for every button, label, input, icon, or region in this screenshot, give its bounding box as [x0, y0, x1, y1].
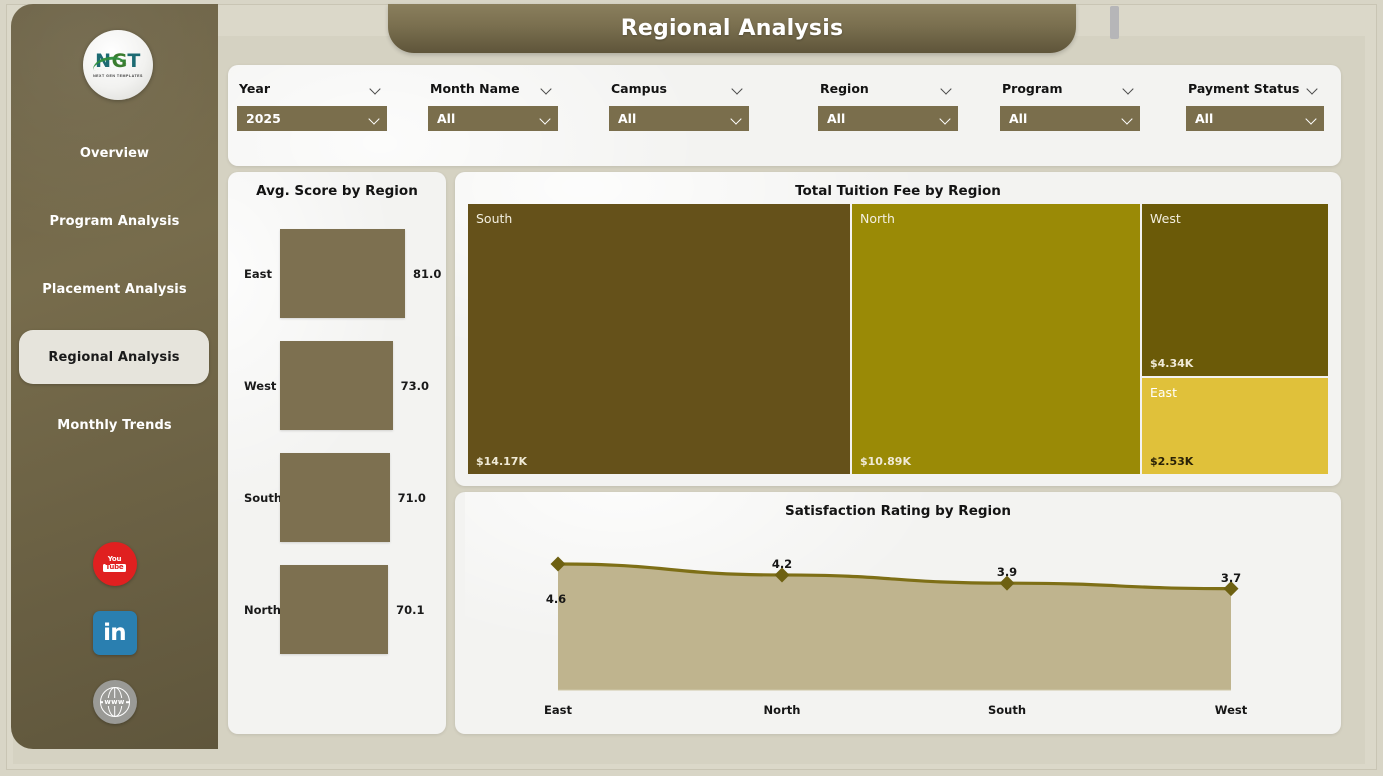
sidebar-nav: Overview Program Analysis Placement Anal… [11, 126, 218, 466]
bar-row: West73.0 [228, 330, 446, 442]
sidebar-item-placement-analysis[interactable]: Placement Analysis [11, 262, 218, 316]
linkedin-glyph: in [103, 622, 126, 645]
slicer-title: Payment Status [1188, 81, 1299, 96]
treemap-column: West$4.34KEast$2.53K [1142, 204, 1328, 474]
area-chart-plot: 4.64.23.93.7EastNorthSouthWest [455, 522, 1341, 734]
slicer-payment-status[interactable]: Payment Status All [1186, 77, 1324, 131]
social-links: You Tube in www [11, 542, 218, 749]
data-point-value-label: 3.9 [997, 565, 1017, 579]
sidebar-item-label: Placement Analysis [42, 282, 186, 297]
treemap-tile-label: East [1150, 385, 1177, 400]
chevron-down-icon[interactable] [1307, 83, 1318, 94]
treemap-tile[interactable]: East$2.53K [1142, 378, 1328, 474]
chart-title-total-tuition: Total Tuition Fee by Region [455, 183, 1341, 199]
slicer-title: Region [820, 81, 869, 96]
dashboard-root: NGT NEXT GEN TEMPLATES Overview Program … [0, 0, 1383, 776]
youtube-label-top: You [108, 556, 122, 563]
chevron-down-icon[interactable] [369, 113, 380, 124]
sidebar-item-overview[interactable]: Overview [11, 126, 218, 180]
chevron-down-icon[interactable] [941, 83, 952, 94]
linkedin-icon[interactable]: in [93, 611, 137, 655]
bar-value-label: 81.0 [413, 267, 441, 281]
chevron-down-icon[interactable] [1123, 83, 1134, 94]
x-axis-category-label: East [544, 703, 572, 717]
area-fill [558, 564, 1231, 690]
slicer-dropdown[interactable]: All [428, 106, 558, 131]
slicer-header[interactable]: Program [1000, 77, 1140, 99]
satisfaction-rating-by-region-panel: Satisfaction Rating by Region 4.64.23.93… [455, 492, 1341, 734]
bar-rect[interactable] [280, 229, 405, 318]
treemap-tile[interactable]: North$10.89K [852, 204, 1140, 474]
sidebar-item-regional-analysis[interactable]: Regional Analysis [19, 330, 209, 384]
youtube-icon[interactable]: You Tube [93, 542, 137, 586]
treemap-column: North$10.89K [852, 204, 1140, 474]
avg-score-by-region-panel: Avg. Score by Region East81.0West73.0Sou… [228, 172, 446, 734]
bar-category-label: East [244, 267, 272, 281]
bar-value-label: 73.0 [401, 379, 429, 393]
slicer-value: All [827, 111, 845, 126]
slicer-region[interactable]: Region All [818, 77, 958, 131]
treemap-tile[interactable]: South$14.17K [468, 204, 850, 474]
sidebar-item-label: Monthly Trends [57, 418, 171, 433]
treemap-tile-label: North [860, 211, 895, 226]
slicer-dropdown[interactable]: All [1000, 106, 1140, 131]
treemap-tile-label: West [1150, 211, 1181, 226]
chevron-down-icon[interactable] [732, 83, 743, 94]
slicer-dropdown[interactable]: All [609, 106, 749, 131]
slicer-header[interactable]: Payment Status [1186, 77, 1324, 99]
slicer-title: Month Name [430, 81, 520, 96]
youtube-glyph: You Tube [102, 554, 128, 574]
treemap-column: South$14.17K [468, 204, 850, 474]
brand-logo: NGT NEXT GEN TEMPLATES [83, 30, 153, 100]
x-axis-category-label: South [988, 703, 1026, 717]
bar-category-label: North [244, 603, 281, 617]
logo-letter-t: T [127, 50, 140, 72]
bar-category-label: South [244, 491, 282, 505]
bar-chart-plot: East81.0West73.0South71.0North70.1 [228, 218, 446, 718]
area-chart-svg [455, 522, 1341, 734]
chevron-down-icon[interactable] [940, 113, 951, 124]
slicer-header[interactable]: Year [237, 77, 387, 99]
bar-value-label: 71.0 [398, 491, 426, 505]
sidebar: NGT NEXT GEN TEMPLATES Overview Program … [11, 4, 218, 749]
bar-rect[interactable] [280, 565, 388, 654]
bar-row: East81.0 [228, 218, 446, 330]
logo-tagline: NEXT GEN TEMPLATES [93, 74, 143, 78]
treemap-tile-label: South [476, 211, 512, 226]
data-point-value-label: 3.7 [1221, 571, 1241, 585]
bar-rect[interactable] [280, 341, 393, 430]
bar-row: South71.0 [228, 442, 446, 554]
sidebar-item-label: Overview [80, 146, 149, 161]
chart-title-avg-score: Avg. Score by Region [228, 183, 446, 199]
vertical-scrollbar-handle[interactable] [1110, 6, 1119, 39]
slicer-dropdown[interactable]: All [818, 106, 958, 131]
slicer-year[interactable]: Year 2025 [237, 77, 387, 131]
chevron-down-icon[interactable] [731, 113, 742, 124]
data-point-value-label: 4.2 [772, 557, 792, 571]
slicer-program[interactable]: Program All [1000, 77, 1140, 131]
treemap-tile-value: $4.34K [1150, 357, 1193, 370]
sidebar-item-label: Program Analysis [50, 214, 180, 229]
sidebar-item-program-analysis[interactable]: Program Analysis [11, 194, 218, 248]
chevron-down-icon[interactable] [1122, 113, 1133, 124]
treemap-tile-value: $10.89K [860, 455, 911, 468]
treemap-tile-value: $14.17K [476, 455, 527, 468]
treemap-plot: South$14.17KNorth$10.89KWest$4.34KEast$2… [468, 204, 1328, 474]
x-axis-category-label: West [1215, 703, 1247, 717]
slicer-header[interactable]: Month Name [428, 77, 558, 99]
bar-rect[interactable] [280, 453, 390, 542]
total-tuition-fee-by-region-panel: Total Tuition Fee by Region South$14.17K… [455, 172, 1341, 486]
slicer-campus[interactable]: Campus All [609, 77, 749, 131]
slicer-value: All [437, 111, 455, 126]
page-title-banner: Regional Analysis [388, 4, 1076, 53]
slicer-value: 2025 [246, 111, 281, 126]
chevron-down-icon[interactable] [370, 83, 381, 94]
slicer-value: All [1195, 111, 1213, 126]
chart-title-satisfaction: Satisfaction Rating by Region [455, 503, 1341, 519]
slicer-title: Program [1002, 81, 1063, 96]
x-axis-category-label: North [764, 703, 801, 717]
bar-category-label: West [244, 379, 276, 393]
slicer-title: Year [239, 81, 270, 96]
chevron-down-icon[interactable] [540, 113, 551, 124]
slicer-dropdown[interactable]: 2025 [237, 106, 387, 131]
chevron-down-icon[interactable] [1306, 113, 1317, 124]
bar-row: North70.1 [228, 554, 446, 666]
slicer-month-name[interactable]: Month Name All [428, 77, 558, 131]
website-icon[interactable]: www [93, 680, 137, 724]
slicer-value: All [618, 111, 636, 126]
sidebar-item-monthly-trends[interactable]: Monthly Trends [11, 398, 218, 452]
slicer-header[interactable]: Region [818, 77, 958, 99]
treemap-tile-value: $2.53K [1150, 455, 1193, 468]
slicer-header[interactable]: Campus [609, 77, 749, 99]
slicer-dropdown[interactable]: All [1186, 106, 1324, 131]
page-title: Regional Analysis [621, 16, 844, 41]
filter-bar [228, 65, 1341, 166]
data-point-value-label: 4.6 [546, 592, 566, 606]
slicer-value: All [1009, 111, 1027, 126]
treemap-tile[interactable]: West$4.34K [1142, 204, 1328, 376]
bar-value-label: 70.1 [396, 603, 424, 617]
youtube-label-bottom: Tube [103, 564, 127, 572]
website-label: www [103, 698, 125, 706]
globe-glyph: www [100, 687, 130, 717]
slicer-title: Campus [611, 81, 667, 96]
chevron-down-icon[interactable] [541, 83, 552, 94]
sidebar-item-label: Regional Analysis [48, 350, 179, 365]
